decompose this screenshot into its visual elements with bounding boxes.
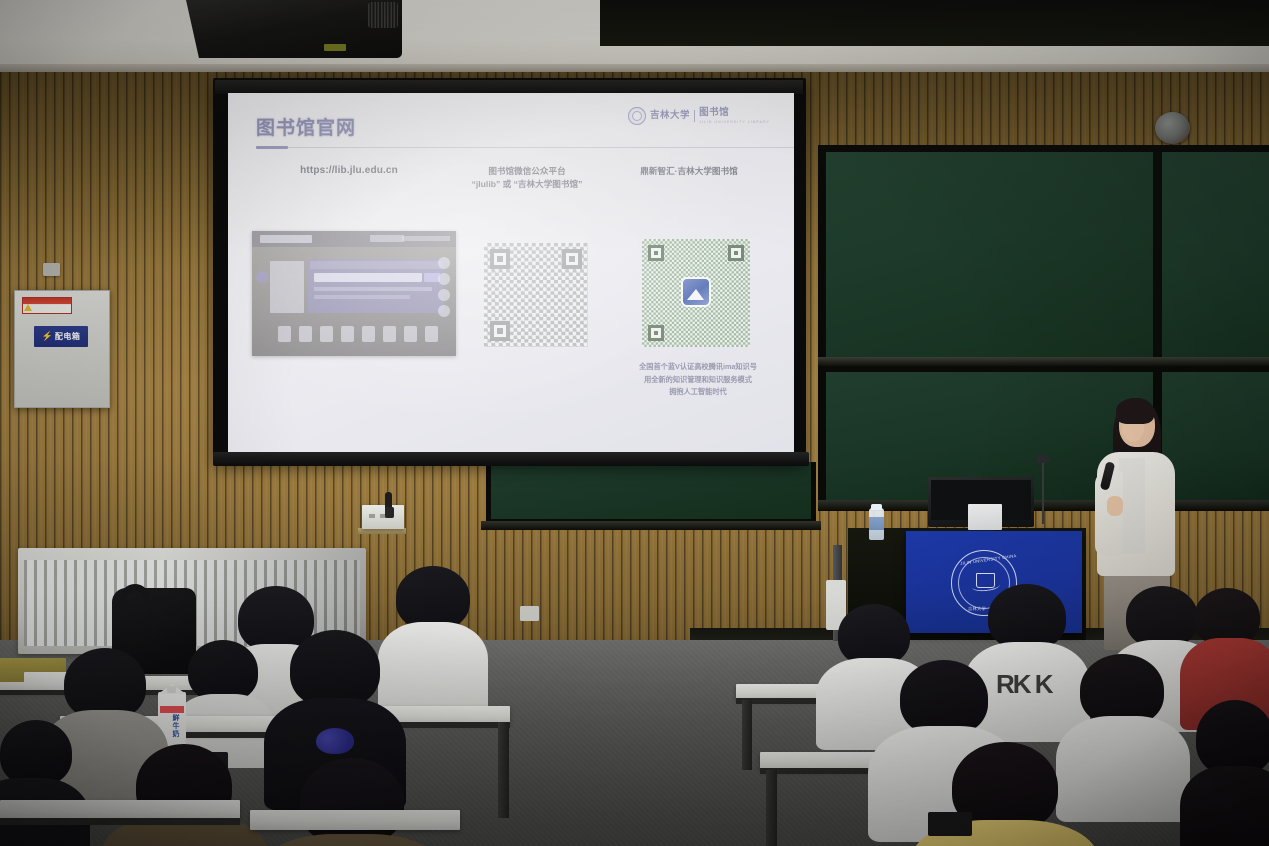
desk-edge (760, 768, 880, 774)
student-head (290, 630, 380, 708)
student-torso (1056, 716, 1190, 822)
notebook (24, 672, 68, 684)
mic-stand (1042, 462, 1044, 524)
wall-outlet-secondary[interactable] (520, 606, 539, 621)
caption-line-1: 全国首个蓝V认证高校腾讯ima知识号 (628, 361, 768, 374)
slide-caption: 全国首个蓝V认证高校腾讯ima知识号 用全新的知识管理和知识服务模式 拥抱人工智… (628, 361, 768, 399)
seal-text-top: JILIN UNIVERSITY CHINA (960, 553, 1017, 566)
caption-line-3: 拥抱人工智能时代 (628, 386, 768, 399)
qr-finder-tr (728, 245, 744, 261)
logo-library-name: 图书馆 (699, 108, 770, 118)
title-underline (256, 147, 794, 148)
blackboard-panel-right (1162, 152, 1269, 357)
logo-english-name: JILIN UNIVERSITY LIBRARY (699, 120, 770, 124)
column-wechat: 图书馆微信公众平台 “jlulib” 或 “吉林大学图书馆” (442, 165, 612, 192)
qr-finder-tl (490, 249, 510, 269)
shirt-text: RK K (996, 674, 1054, 710)
screenshot-washout (252, 231, 456, 356)
panel-sign-label: 配电箱 (55, 331, 81, 342)
bolt-icon: ⚡ (42, 331, 53, 342)
student-head (188, 640, 258, 702)
student-head (900, 660, 988, 736)
bottle-cap (871, 504, 882, 510)
qr-finder-bl (490, 321, 510, 341)
desk-leg (498, 722, 509, 818)
student-head (0, 720, 72, 786)
presenter-fringe (1116, 398, 1154, 424)
column-ima: 鼎新智汇·吉林大学图书馆 (612, 165, 766, 192)
qr-finder-tr (562, 249, 582, 269)
student-torso (378, 622, 488, 714)
blackboard-panel-left (826, 152, 1153, 357)
qr-finder-bl (648, 325, 664, 341)
column-website: https://lib.jlu.edu.cn (256, 165, 442, 192)
projector-label (324, 44, 346, 51)
mic-stand-head (1036, 455, 1050, 463)
website-url[interactable]: https://lib.jlu.edu.cn (256, 165, 442, 176)
slide-content: 图书馆官网 吉林大学 图书馆 JILIN UNIVERSITY LIBRARY … (228, 93, 794, 452)
backpack-strap (120, 584, 150, 614)
student-head (1126, 586, 1198, 648)
blackboard-panel-lower-right (1162, 372, 1269, 500)
student-head (838, 604, 910, 666)
student-torso (1180, 766, 1269, 846)
logo-divider (694, 110, 695, 122)
student-head (396, 566, 470, 630)
student-head (988, 584, 1066, 650)
logo-university-name: 吉林大学 (650, 111, 690, 121)
slide-columns: https://lib.jlu.edu.cn 图书馆微信公众平台 “jlulib… (256, 165, 766, 192)
caption-line-2: 用全新的知识管理和知识服务模式 (628, 374, 768, 387)
wechat-header-line-2: “jlulib” 或 “吉林大学图书馆” (442, 178, 612, 191)
seal-text-bottom: 吉林大学 (968, 606, 986, 612)
desk-edge (0, 818, 240, 825)
seal-swoosh-icon (972, 580, 1001, 593)
desk-row-front-left (0, 800, 240, 820)
lecture-hall-scene: ⚡ 配电箱 图书馆官网 吉林大学 图书馆 JILIN UNIVERSITY LI… (0, 0, 1269, 846)
screen-bottom-bar (213, 452, 809, 466)
warning-triangle-icon (24, 304, 32, 311)
shirt-graphic-heart (316, 728, 354, 754)
university-seal-icon (628, 107, 646, 125)
desk-microphone-icon (385, 492, 392, 512)
screen-top-bar (215, 80, 803, 94)
wechat-header-line-1: 图书馆微信公众平台 (442, 165, 612, 178)
dell-unit (968, 504, 1002, 530)
smartphone-right[interactable] (928, 812, 972, 836)
ima-logo-icon (683, 279, 709, 305)
presenter-hand (1107, 496, 1123, 516)
projector-vent (368, 2, 398, 28)
wall-outlet[interactable] (43, 263, 60, 276)
milk-carton-cap (167, 686, 176, 693)
control-indicator-1 (369, 514, 375, 518)
blackboard-behind-screen (486, 462, 816, 524)
student-head (1196, 700, 1269, 776)
projection-screen[interactable]: 图书馆官网 吉林大学 图书馆 JILIN UNIVERSITY LIBRARY … (228, 93, 794, 452)
qr-finder-tl (648, 245, 664, 261)
wall-speaker-icon (1155, 112, 1190, 144)
panel-sign: ⚡ 配电箱 (34, 326, 88, 347)
milk-carton-text: 鲜牛奶 (164, 714, 180, 738)
library-website-screenshot (252, 231, 456, 356)
title-underline-accent (256, 146, 288, 149)
ima-header-line-1: 鼎新智汇·吉林大学图书馆 (612, 165, 766, 178)
desk-leg (766, 770, 777, 846)
blackboard-ledge-upper (818, 357, 1269, 366)
library-logo: 吉林大学 图书馆 JILIN UNIVERSITY LIBRARY (628, 107, 770, 125)
student-head (300, 758, 404, 846)
seal-book-icon (976, 573, 995, 588)
blackboard-behind-ledge (481, 521, 821, 530)
bottle-label (869, 517, 884, 530)
desk-row-front-left-2 (250, 810, 460, 830)
wechat-qr-code (484, 243, 588, 347)
ceiling-recess (600, 0, 1269, 46)
desk-leg (742, 700, 752, 770)
